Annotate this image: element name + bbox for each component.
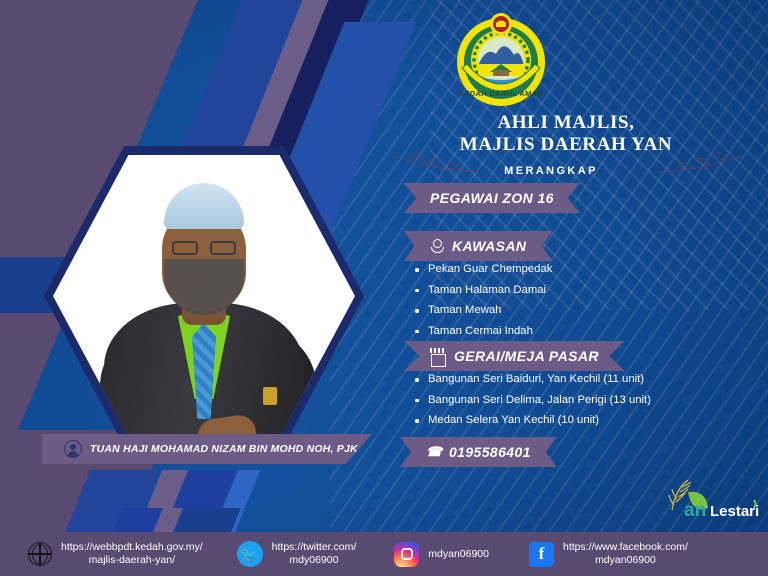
list-item: Medan Selera Yan Kechil (10 unit) bbox=[412, 410, 651, 431]
list-item: Bangunan Seri Baiduri, Yan Kechil (11 un… bbox=[412, 369, 651, 390]
footer-link-website[interactable]: https://webbpdt.kedah.gov.my/ majlis-dae… bbox=[28, 541, 203, 567]
footer-link-twitter[interactable]: 🐦 https://twitter.com/ mdy06900 bbox=[237, 541, 357, 567]
gerai-badge: GERAI/MEJA PASAR bbox=[404, 341, 625, 371]
facebook-url: https://www.facebook.com/ mdyan06900 bbox=[563, 541, 688, 567]
yan-lestari-logo: an Lestari bbox=[658, 476, 762, 524]
globe-icon bbox=[28, 542, 52, 566]
yan-lestari-text-yan: an bbox=[684, 500, 706, 521]
person-name: TUAN HAJI MOHAMAD NIZAM BIN MOHD NOH, PJ… bbox=[90, 443, 361, 455]
footer-link-instagram[interactable]: mdyan06900 bbox=[394, 542, 489, 567]
footer-link-facebook[interactable]: f https://www.facebook.com/ mdyan06900 bbox=[529, 541, 688, 567]
position-label: PEGAWAI ZON 16 bbox=[430, 190, 554, 206]
instagram-icon bbox=[394, 542, 419, 567]
merangkap-label: MERANGKAP bbox=[396, 165, 706, 177]
title-line-1: AHLI MAJLIS, bbox=[396, 112, 736, 134]
list-item: Taman Mewah bbox=[412, 300, 552, 321]
instagram-handle: mdyan06900 bbox=[428, 548, 489, 561]
right-column: KEDAH DARUL AMAN AHLI MAJLIS, MAJLIS DAE… bbox=[396, 0, 768, 532]
market-stall-icon bbox=[430, 348, 445, 365]
list-item: Taman Cermai Indah bbox=[412, 321, 552, 342]
list-item: Pekan Guar Chempedak bbox=[412, 259, 552, 280]
phone-number: 0195586401 bbox=[449, 444, 531, 460]
user-icon bbox=[64, 440, 82, 458]
photo-lapel-badge bbox=[263, 387, 277, 405]
phone-icon: ☎ bbox=[426, 445, 440, 459]
portrait-hexagon bbox=[44, 146, 364, 446]
phone-badge[interactable]: ☎ 0195586401 bbox=[400, 437, 557, 467]
yan-lestari-text-lestari: Lestari bbox=[710, 503, 759, 520]
website-url: https://webbpdt.kedah.gov.my/ majlis-dae… bbox=[61, 541, 203, 567]
photo-songkok-cap bbox=[164, 183, 244, 229]
photo-eye-left bbox=[172, 241, 198, 255]
svg-text:KEDAH DARUL AMAN: KEDAH DARUL AMAN bbox=[459, 89, 543, 98]
gerai-list: Bangunan Seri Baiduri, Yan Kechil (11 un… bbox=[412, 369, 651, 431]
twitter-icon: 🐦 bbox=[237, 541, 263, 567]
location-pin-icon bbox=[430, 239, 443, 254]
footer-bar: https://webbpdt.kedah.gov.my/ majlis-dae… bbox=[0, 532, 768, 576]
kawasan-label: KAWASAN bbox=[452, 238, 526, 254]
kawasan-badge: KAWASAN bbox=[404, 231, 552, 261]
twitter-url: https://twitter.com/ mdy06900 bbox=[272, 541, 357, 567]
gerai-label: GERAI/MEJA PASAR bbox=[454, 348, 599, 364]
majlis-daerah-yan-crest-icon: KEDAH DARUL AMAN bbox=[452, 10, 550, 108]
photo-eye-right bbox=[210, 241, 236, 255]
facebook-icon: f bbox=[529, 542, 554, 567]
poster-root: TUAN HAJI MOHAMAD NIZAM BIN MOHD NOH, PJ… bbox=[0, 0, 768, 576]
list-item: Taman Halaman Damai bbox=[412, 280, 552, 301]
person-name-bar: TUAN HAJI MOHAMAD NIZAM BIN MOHD NOH, PJ… bbox=[42, 434, 372, 464]
kawasan-list: Pekan Guar Chempedak Taman Halaman Damai… bbox=[412, 259, 552, 341]
list-item: Bangunan Seri Delima, Jalan Perigi (13 u… bbox=[412, 390, 651, 411]
position-badge: PEGAWAI ZON 16 bbox=[404, 183, 580, 213]
footer-ribbon-3 bbox=[175, 508, 241, 532]
